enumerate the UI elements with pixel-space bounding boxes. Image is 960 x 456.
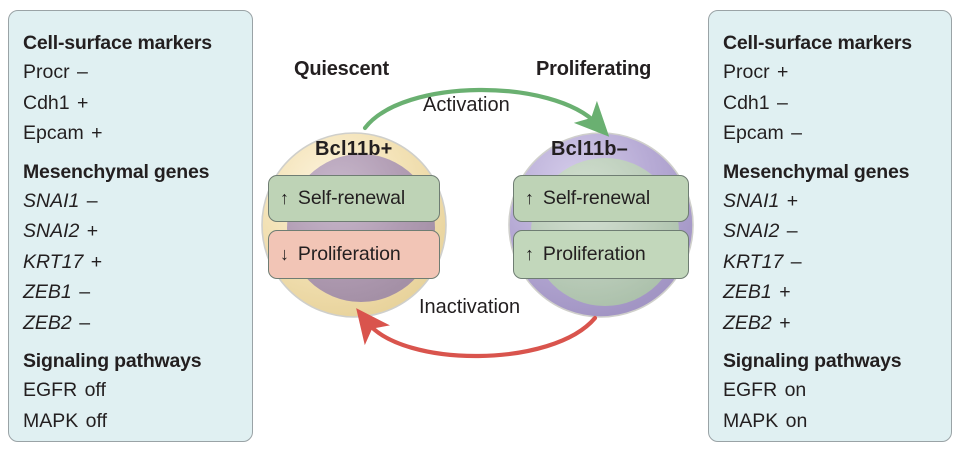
attribute-value: + [772, 281, 791, 303]
inactivation-label: Inactivation [419, 296, 520, 319]
attribute-value: – [784, 122, 802, 144]
cell-state-diagram: Quiescent Proliferating Bcl11b+ Bcl11b– … [253, 0, 708, 456]
attribute-row: MAPK off [23, 406, 252, 437]
activation-label: Activation [423, 94, 510, 117]
attribute-value: + [83, 251, 102, 273]
attribute-value: – [72, 312, 90, 334]
attribute-row: Procr – [23, 57, 252, 88]
up-arrow-icon: ↑ [514, 188, 543, 209]
attribute-row: SNAI2 + [23, 216, 252, 247]
quiescent-attributes-panel: Cell-surface markersProcr –Cdh1 +Epcam +… [8, 10, 253, 442]
attribute-group-heading: Cell-surface markers [23, 29, 252, 57]
attribute-row: Epcam – [723, 118, 951, 149]
attribute-name: EGFR [723, 379, 777, 401]
down-arrow-icon: ↓ [269, 244, 298, 265]
attribute-value: on [778, 410, 807, 432]
attribute-value: + [84, 122, 103, 144]
attribute-name: EGFR [23, 379, 77, 401]
attribute-name: Procr [23, 61, 70, 83]
panel-content: Cell-surface markersProcr +Cdh1 –Epcam –… [709, 11, 951, 436]
attribute-group: Cell-surface markersProcr +Cdh1 –Epcam – [723, 29, 951, 149]
proliferating-self-renewal-label: Self-renewal [543, 187, 650, 210]
attribute-row: SNAI1 + [723, 186, 951, 217]
attribute-row: Cdh1 + [23, 88, 252, 119]
quiescent-self-renewal-box: ↑ Self-renewal [268, 175, 440, 222]
attribute-name: KRT17 [723, 251, 783, 273]
quiescent-proliferation-label: Proliferation [298, 243, 401, 266]
attribute-group-heading: Mesenchymal genes [723, 158, 951, 186]
attribute-group-heading: Signaling pathways [723, 347, 951, 375]
attribute-row: ZEB2 + [723, 308, 951, 339]
attribute-value: + [779, 190, 798, 212]
attribute-value: – [783, 251, 801, 273]
attribute-name: Cdh1 [23, 92, 70, 114]
attribute-row: Procr + [723, 57, 951, 88]
attribute-name: SNAI2 [723, 220, 779, 242]
quiescent-proliferation-box: ↓ Proliferation [268, 230, 440, 279]
attribute-group: Cell-surface markersProcr –Cdh1 +Epcam + [23, 29, 252, 149]
attribute-row: KRT17 – [723, 247, 951, 278]
attribute-group-heading: Cell-surface markers [723, 29, 951, 57]
attribute-value: – [779, 220, 797, 242]
attribute-value: off [78, 410, 107, 432]
proliferating-attributes-panel: Cell-surface markersProcr +Cdh1 –Epcam –… [708, 10, 952, 442]
attribute-row: SNAI1 – [23, 186, 252, 217]
proliferating-self-renewal-box: ↑ Self-renewal [513, 175, 689, 222]
attribute-name: ZEB2 [723, 312, 772, 334]
quiescent-state-title: Quiescent [294, 58, 389, 81]
attribute-name: Epcam [23, 122, 84, 144]
proliferating-bcl11b-label: Bcl11b– [551, 138, 628, 161]
attribute-group: Signaling pathwaysEGFR onMAPK on [723, 347, 951, 436]
proliferating-state-title: Proliferating [536, 58, 651, 81]
attribute-name: ZEB2 [23, 312, 72, 334]
attribute-name: Epcam [723, 122, 784, 144]
proliferating-proliferation-label: Proliferation [543, 243, 646, 266]
attribute-value: + [70, 92, 89, 114]
attribute-row: EGFR off [23, 375, 252, 406]
attribute-name: KRT17 [23, 251, 83, 273]
attribute-value: – [79, 190, 97, 212]
attribute-row: Epcam + [23, 118, 252, 149]
up-arrow-icon: ↑ [514, 244, 543, 265]
attribute-row: ZEB1 – [23, 277, 252, 308]
attribute-value: + [770, 61, 789, 83]
attribute-name: MAPK [723, 410, 778, 432]
attribute-group: Mesenchymal genesSNAI1 –SNAI2 +KRT17 +ZE… [23, 158, 252, 339]
attribute-group-heading: Mesenchymal genes [23, 158, 252, 186]
attribute-value: – [70, 61, 88, 83]
quiescent-bcl11b-label: Bcl11b+ [315, 138, 393, 161]
up-arrow-icon: ↑ [269, 188, 298, 209]
attribute-name: ZEB1 [723, 281, 772, 303]
attribute-name: Cdh1 [723, 92, 770, 114]
attribute-value: on [777, 379, 806, 401]
attribute-group: Mesenchymal genesSNAI1 +SNAI2 –KRT17 –ZE… [723, 158, 951, 339]
attribute-value: + [79, 220, 98, 242]
attribute-name: MAPK [23, 410, 78, 432]
attribute-group-heading: Signaling pathways [23, 347, 252, 375]
attribute-row: MAPK on [723, 406, 951, 437]
attribute-value: off [77, 379, 106, 401]
quiescent-self-renewal-label: Self-renewal [298, 187, 405, 210]
attribute-row: EGFR on [723, 375, 951, 406]
attribute-name: Procr [723, 61, 770, 83]
attribute-value: – [72, 281, 90, 303]
inactivation-arrow [367, 318, 595, 356]
attribute-group: Signaling pathwaysEGFR offMAPK off [23, 347, 252, 436]
attribute-name: SNAI1 [723, 190, 779, 212]
attribute-row: KRT17 + [23, 247, 252, 278]
attribute-row: ZEB2 – [23, 308, 252, 339]
attribute-value: – [770, 92, 788, 114]
attribute-name: SNAI2 [23, 220, 79, 242]
attribute-name: ZEB1 [23, 281, 72, 303]
panel-content: Cell-surface markersProcr –Cdh1 +Epcam +… [9, 11, 252, 436]
proliferating-proliferation-box: ↑ Proliferation [513, 230, 689, 279]
attribute-value: + [772, 312, 791, 334]
attribute-row: ZEB1 + [723, 277, 951, 308]
attribute-row: SNAI2 – [723, 216, 951, 247]
attribute-row: Cdh1 – [723, 88, 951, 119]
attribute-name: SNAI1 [23, 190, 79, 212]
